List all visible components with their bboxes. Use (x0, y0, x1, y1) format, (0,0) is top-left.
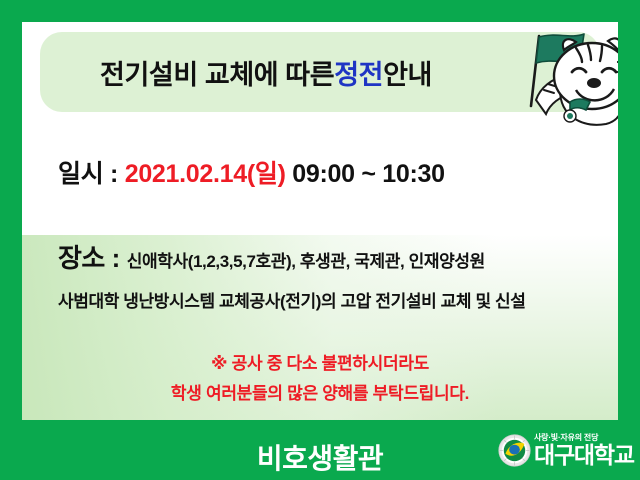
date-time: 09:00 ~ 10:30 (286, 160, 445, 188)
title-banner: 전기설비 교체에 따른 정전 안내 (40, 32, 600, 112)
place-value: 신애학사(1,2,3,5,7호관), 후생관, 국제관, 인재양성원 (127, 247, 485, 272)
date-value: 2021.02.14(일) (125, 160, 286, 188)
notice-line-2: 학생 여러분들의 많은 양해를 부탁드립니다. (22, 379, 618, 404)
title-prefix: 전기설비 교체에 따른 (100, 53, 334, 92)
place-line: 장소 :신애학사(1,2,3,5,7호관), 후생관, 국제관, 인재양성원 (58, 238, 485, 275)
work-description: 사범대학 냉난방시스템 교체공사(전기)의 고압 전기설비 교체 및 신설 (58, 287, 526, 312)
university-emblem-icon (498, 434, 531, 467)
notice-poster: 전기설비 교체에 따른 정전 안내 (0, 0, 640, 480)
title-highlight: 정전 (334, 53, 383, 92)
logo-tagline: 사랑·빛·자유의 전당 (534, 434, 634, 442)
date-label: 일시 : (58, 160, 125, 188)
logo-wordmark: 사랑·빛·자유의 전당 대구대학교 (534, 434, 634, 467)
university-logo: 사랑·빛·자유의 전당 대구대학교 (498, 428, 630, 472)
page-title: 전기설비 교체에 따른 정전 안내 (40, 32, 492, 112)
footer-bar: 비호생활관 (0, 420, 640, 480)
logo-name: 대구대학교 (534, 444, 634, 467)
notice-line-1: ※ 공사 중 다소 불편하시더라도 (22, 349, 618, 374)
date-line: 일시 : 2021.02.14(일) 09:00 ~ 10:30 (58, 154, 445, 190)
title-suffix: 안내 (383, 53, 432, 92)
place-label: 장소 : (58, 238, 120, 275)
content-panel: 전기설비 교체에 따른 정전 안내 (22, 22, 618, 420)
